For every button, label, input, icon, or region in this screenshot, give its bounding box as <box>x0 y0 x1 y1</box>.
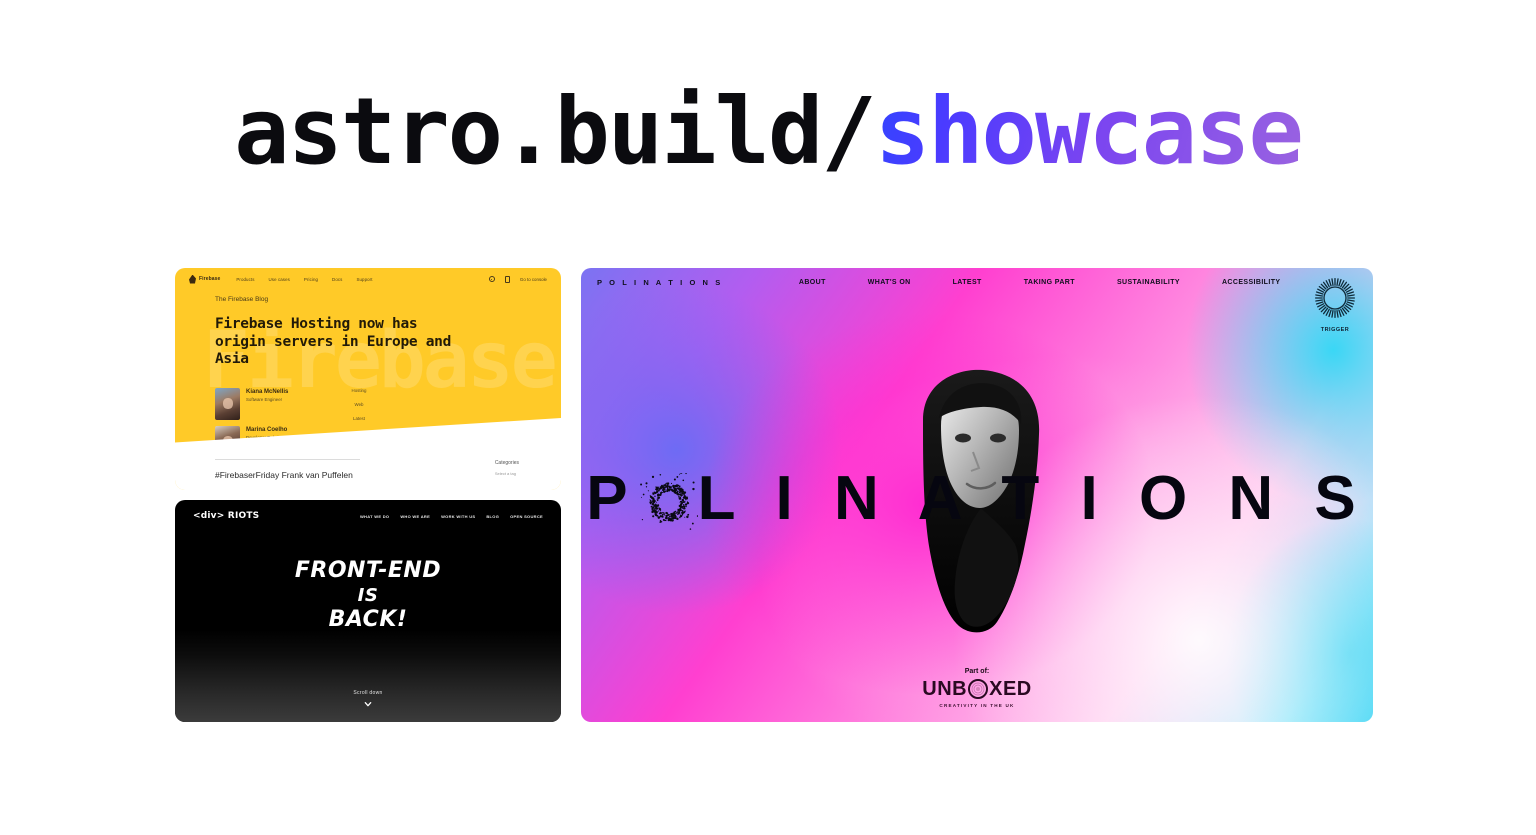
firebase-side-link-1[interactable]: Web <box>334 402 384 407</box>
divriots-navbar: <div> RIOTS WHAT WE DO WHO WE ARE WORK W… <box>175 500 561 532</box>
firebase-nav-item-4[interactable]: Support <box>356 277 372 282</box>
firebase-author-name: Marina Coelho <box>246 426 304 435</box>
page-root: astro.build/showcase Firebase Firebase P… <box>0 0 1536 835</box>
polinations-trigger-label: TRIGGER <box>1309 327 1361 333</box>
firebase-nav-links: Products Use cases Pricing Docs Support <box>236 277 372 282</box>
firebase-headline: Firebase Hosting now has origin servers … <box>215 316 465 369</box>
unboxed-logo-pre: UNB <box>922 679 967 699</box>
firebase-categories-title: Categories <box>495 460 519 466</box>
divriots-nav-links: WHAT WE DO WHO WE ARE WORK WITH US BLOG … <box>360 514 543 519</box>
polinations-nav-item-0[interactable]: ABOUT <box>799 279 826 286</box>
polinations-nav-item-2[interactable]: LATEST <box>953 279 982 286</box>
unboxed-tagline: CREATIVITY IN THE UK <box>581 703 1373 708</box>
docs-page-icon[interactable] <box>505 276 510 283</box>
divriots-nav-item-0[interactable]: WHAT WE DO <box>360 514 389 519</box>
firebase-navbar: Firebase Products Use cases Pricing Docs… <box>175 268 561 290</box>
firebase-nav-item-3[interactable]: Docs <box>332 277 342 282</box>
polinations-logo[interactable]: P O L I N A T I O N S <box>597 278 723 287</box>
page-title: astro.build/showcase <box>234 86 1302 178</box>
divriots-hero-text: FRONT-END IS BACK! <box>175 558 561 634</box>
language-globe-icon[interactable] <box>489 276 495 282</box>
showcase-card-firebase[interactable]: Firebase Firebase Products Use cases Pri… <box>175 268 561 490</box>
divriots-gradient-fade <box>175 630 561 722</box>
polinations-nav-item-3[interactable]: TAKING PART <box>1024 279 1075 286</box>
showcase-card-grid: Firebase Firebase Products Use cases Pri… <box>175 268 1375 722</box>
firebase-side-link-2[interactable]: Latest <box>334 416 384 421</box>
firebase-logo-text: Firebase <box>199 276 220 282</box>
unboxed-logo-post: XED <box>989 679 1032 699</box>
divriots-nav-item-1[interactable]: WHO WE ARE <box>400 514 430 519</box>
firebase-footer-post[interactable]: #FirebaserFriday Frank van Puffelen <box>215 470 353 480</box>
divriots-scroll-cue[interactable]: Scroll down <box>175 690 561 708</box>
firebase-blog-kicker: The Firebase Blog <box>215 296 268 303</box>
flame-icon <box>189 275 196 284</box>
divriots-hero-line-2: IS <box>175 585 561 607</box>
divriots-nav-item-2[interactable]: WORK WITH US <box>441 514 475 519</box>
firebase-categories: Categories Select a tag <box>495 460 519 476</box>
polinations-nav-item-1[interactable]: WHAT'S ON <box>868 279 911 286</box>
polinations-part-of-label: Part of: <box>581 668 1373 675</box>
polinations-nav-item-5[interactable]: ACCESSIBILITY <box>1222 279 1280 286</box>
showcase-column-right: P O L I N A T I O N S ABOUT WHAT'S ON LA… <box>581 268 1373 722</box>
spiral-o-icon <box>968 679 988 699</box>
unboxed-logo[interactable]: UNB XED <box>922 679 1031 699</box>
divriots-nav-item-3[interactable]: BLOG <box>486 514 499 519</box>
firebase-logo[interactable]: Firebase <box>189 275 220 284</box>
polinations-trigger-badge[interactable]: TRIGGER <box>1309 276 1361 333</box>
firebase-navbar-right: Go to console <box>489 276 547 283</box>
chevron-down-icon <box>364 700 372 708</box>
firebase-side-links: Hosting Web Latest <box>334 388 384 430</box>
firebase-console-link[interactable]: Go to console <box>520 277 547 282</box>
polinations-nav-links: ABOUT WHAT'S ON LATEST TAKING PART SUSTA… <box>799 279 1281 286</box>
firebase-author-name: Kiana McNellis <box>246 388 288 397</box>
polinations-unboxed-block: Part of: UNB XED CREATIVITY IN THE UK <box>581 668 1373 708</box>
divriots-scroll-label: Scroll down <box>175 690 561 696</box>
firebase-nav-item-0[interactable]: Products <box>236 277 254 282</box>
polinations-navbar: P O L I N A T I O N S ABOUT WHAT'S ON LA… <box>581 268 1373 296</box>
page-title-wrap: astro.build/showcase <box>0 86 1536 178</box>
showcase-card-divriots[interactable]: <div> RIOTS WHAT WE DO WHO WE ARE WORK W… <box>175 500 561 722</box>
divriots-logo[interactable]: <div> RIOTS <box>193 511 259 521</box>
firebase-categories-sub[interactable]: Select a tag <box>495 471 519 476</box>
firebase-author-role: Software Engineer <box>246 397 288 403</box>
divriots-hero-line-1: FRONT-END <box>175 558 561 585</box>
firebase-author: Kiana McNellis Software Engineer <box>215 388 304 420</box>
polinations-headline-p: P <box>586 464 639 533</box>
showcase-column-left: Firebase Firebase Products Use cases Pri… <box>175 268 561 722</box>
polinations-nav-item-4[interactable]: SUSTAINABILITY <box>1117 279 1180 286</box>
polinations-headline: P L I N A T I O N S <box>581 468 1373 530</box>
divriots-hero-line-3: BACK! <box>175 607 561 634</box>
polinations-headline-rest: L I N A T I O N S <box>698 464 1368 533</box>
radiating-circle-icon <box>1313 276 1357 320</box>
firebase-side-link-0[interactable]: Hosting <box>334 388 384 393</box>
showcase-card-polinations[interactable]: P O L I N A T I O N S ABOUT WHAT'S ON LA… <box>581 268 1373 722</box>
page-title-domain: astro.build <box>234 78 821 185</box>
firebase-nav-item-2[interactable]: Pricing <box>304 277 318 282</box>
page-title-slash: / <box>821 78 874 185</box>
avatar <box>215 388 240 420</box>
divider <box>215 459 360 460</box>
firebase-nav-item-1[interactable]: Use cases <box>269 277 290 282</box>
page-title-accent: showcase <box>875 78 1302 185</box>
divriots-nav-item-4[interactable]: OPEN SOURCE <box>510 514 543 519</box>
